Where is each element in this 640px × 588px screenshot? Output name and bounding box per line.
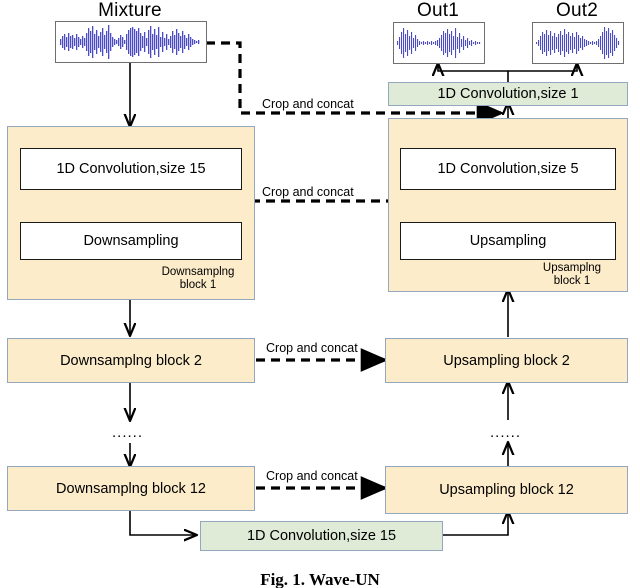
bottleneck-conv-label: 1D Convolution,size 15 bbox=[247, 528, 396, 544]
upsampling-block-1-upsample-label: Upsampling bbox=[470, 233, 547, 249]
skip-connection-label-top: Crop and concat bbox=[262, 97, 354, 111]
mixture-waveform bbox=[55, 21, 207, 63]
out1-label: Out1 bbox=[393, 0, 483, 22]
upsampling-block-1-conv5-label: 1D Convolution,size 5 bbox=[437, 161, 578, 177]
downsampling-block-2: Downsamplng block 2 bbox=[7, 338, 255, 383]
out1-waveform bbox=[393, 22, 485, 64]
output-conv-label: 1D Convolution,size 1 bbox=[437, 86, 578, 102]
upsampling-block-1-name: Upsamplng block 1 bbox=[526, 262, 618, 287]
downsampling-block-1-name: Downsamplng block 1 bbox=[150, 266, 246, 291]
upsampling-block-1-conv5: 1D Convolution,size 5 bbox=[400, 148, 616, 190]
mixture-waveform-plot bbox=[56, 22, 206, 62]
upsampling-block-2: Upsampling block 2 bbox=[385, 338, 628, 383]
bottleneck-conv-box: 1D Convolution,size 15 bbox=[200, 521, 443, 551]
decoder-ellipsis: ...... bbox=[490, 424, 521, 441]
upsampling-block-12-label: Upsampling block 12 bbox=[439, 482, 574, 498]
downsampling-block-1-downsample: Downsampling bbox=[20, 222, 242, 260]
figure-canvas: Mixture bbox=[0, 0, 640, 588]
out2-waveform-plot bbox=[533, 23, 623, 63]
downsampling-block-12: Downsamplng block 12 bbox=[7, 466, 255, 511]
encoder-ellipsis: ...... bbox=[112, 424, 143, 441]
downsampling-block-1-conv15-label: 1D Convolution,size 15 bbox=[56, 161, 205, 177]
skip-connection-label-block12: Crop and concat bbox=[266, 469, 358, 483]
mixture-label: Mixture bbox=[55, 0, 205, 22]
upsampling-block-2-label: Upsampling block 2 bbox=[443, 353, 570, 369]
downsampling-block-1-conv15: 1D Convolution,size 15 bbox=[20, 148, 242, 190]
skip-connection-label-block2: Crop and concat bbox=[266, 341, 358, 355]
out1-waveform-plot bbox=[394, 23, 484, 63]
skip-connection-label-block1: Crop and concat bbox=[262, 185, 354, 199]
output-conv-box: 1D Convolution,size 1 bbox=[388, 82, 628, 106]
upsampling-block-1-upsample: Upsampling bbox=[400, 222, 616, 260]
figure-caption: Fig. 1. Wave-UN bbox=[0, 570, 640, 588]
downsampling-block-2-label: Downsamplng block 2 bbox=[60, 353, 202, 369]
downsampling-block-12-label: Downsamplng block 12 bbox=[56, 481, 206, 497]
out2-waveform bbox=[532, 22, 624, 64]
downsampling-block-1-downsample-label: Downsampling bbox=[83, 233, 178, 249]
upsampling-block-12: Upsampling block 12 bbox=[385, 466, 628, 514]
out2-label: Out2 bbox=[532, 0, 622, 22]
